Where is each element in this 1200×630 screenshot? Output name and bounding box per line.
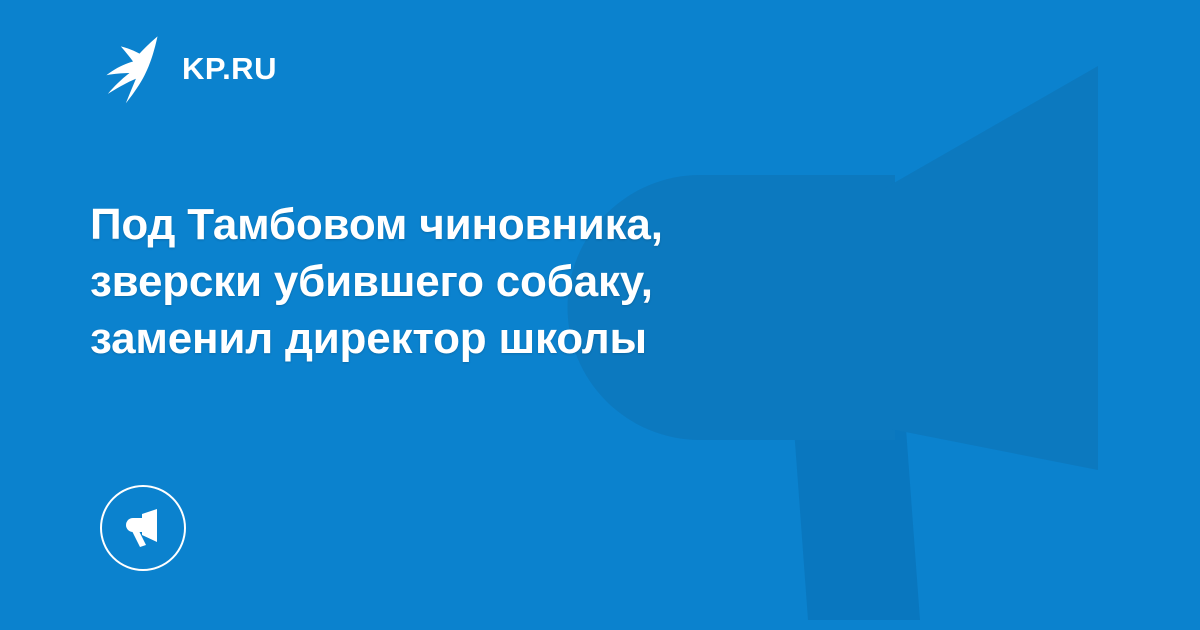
megaphone-badge[interactable]: [100, 485, 186, 571]
brand-header[interactable]: KP.RU: [92, 32, 277, 104]
brand-name: KP.RU: [182, 53, 277, 84]
headline-line-3: заменил директор школы: [90, 310, 890, 367]
share-card: KP.RU Под Тамбовом чиновника, зверски уб…: [0, 0, 1200, 630]
swallow-bird-icon: [92, 32, 164, 104]
headline-line-2: зверски убившего собаку,: [90, 253, 890, 310]
headline-line-1: Под Тамбовом чиновника,: [90, 196, 890, 253]
page-title: Под Тамбовом чиновника, зверски убившего…: [90, 196, 890, 367]
megaphone-icon: [121, 507, 165, 551]
